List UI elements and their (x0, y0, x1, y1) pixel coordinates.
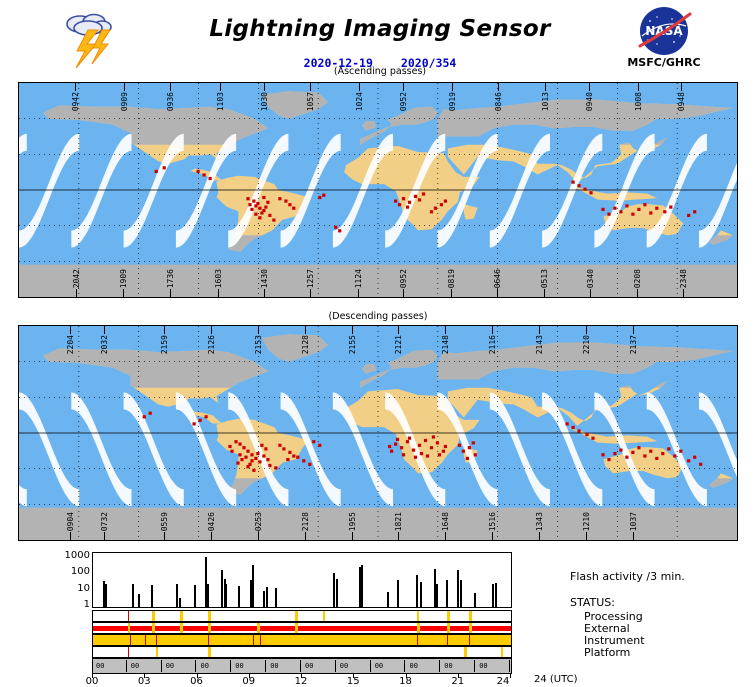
flash-activity-bar (387, 592, 389, 607)
orbit-tick (498, 83, 499, 91)
legend-flash-activity: Flash activity /3 min. (570, 570, 685, 583)
orbit-tick (352, 532, 353, 540)
orbit-tick (403, 83, 404, 91)
flash-marker (258, 460, 261, 463)
flash-marker (199, 419, 202, 422)
flash-marker (209, 177, 212, 180)
y-axis-tick-label: 10 (50, 583, 90, 594)
platform-segment: 00 (198, 660, 232, 672)
orbit-time-label: 1030 (260, 92, 269, 111)
x-axis-tick-label: 12 (286, 676, 316, 687)
flash-marker (406, 440, 409, 443)
instrument-status-mark (260, 635, 261, 645)
orbit-time-label: 1210 (582, 512, 591, 531)
flash-activity-bar (361, 565, 363, 608)
flash-activity-bar (333, 573, 335, 607)
processing-status-mark (323, 611, 325, 621)
orbit-time-label: 0904 (66, 512, 75, 531)
flash-marker (163, 166, 166, 169)
flash-marker (408, 437, 411, 440)
flash-marker (406, 206, 409, 209)
flash-marker (607, 213, 610, 216)
flash-marker (143, 415, 146, 418)
orbit-tick (264, 83, 265, 91)
orbit-time-label: 0732 (100, 512, 109, 531)
orbit-tick (305, 532, 306, 540)
flash-marker (197, 170, 200, 173)
flash-marker (205, 415, 208, 418)
flash-marker (442, 450, 445, 453)
flash-marker (619, 210, 622, 213)
y-axis-tick-label: 100 (50, 566, 90, 577)
flash-marker (260, 444, 263, 447)
orbit-tick (352, 326, 353, 334)
orbit-time-label: 1057 (306, 92, 315, 111)
legend-platform: Platform (584, 646, 630, 659)
orbit-time-label: 2159 (160, 335, 169, 354)
orbit-tick (305, 326, 306, 334)
flash-marker (583, 188, 586, 191)
flash-marker (414, 456, 417, 459)
flash-marker (155, 170, 158, 173)
flash-marker (390, 450, 393, 453)
flash-marker (643, 203, 646, 206)
orbit-time-label: 1103 (216, 92, 225, 111)
orbit-tick (681, 83, 682, 91)
orbit-time-label: 2210 (582, 335, 591, 354)
flash-marker (246, 450, 249, 453)
flash-marker (272, 219, 275, 222)
orbit-time-label: 0819 (447, 269, 456, 288)
flash-marker (418, 444, 421, 447)
orbit-time-label: 2148 (441, 335, 450, 354)
flash-marker (246, 197, 249, 200)
flash-marker (250, 208, 253, 211)
flash-marker (308, 463, 311, 466)
external-status-mark (208, 623, 211, 633)
flash-marker (466, 457, 469, 460)
x-axis-tick-label-last: 24 (488, 676, 518, 687)
orbit-tick (104, 326, 105, 334)
orbit-time-label: 0940 (585, 92, 594, 111)
descending-caption: (Descending passes) (18, 311, 738, 322)
flash-activity-bar (179, 598, 181, 607)
processing-status-mark (180, 611, 183, 621)
flash-marker (418, 198, 421, 201)
processing-status-mark (295, 611, 298, 621)
processing-status-mark (447, 611, 450, 621)
orbit-time-label: 0208 (633, 269, 642, 288)
orbit-tick (310, 289, 311, 297)
orbit-tick (590, 289, 591, 297)
flash-activity-bar (446, 580, 448, 607)
orbit-time-label: 1955 (348, 512, 357, 531)
external-status-mark (447, 623, 450, 633)
flash-marker (286, 458, 289, 461)
descending-map-canvas (18, 325, 738, 541)
flash-activity-bar (207, 584, 209, 607)
orbit-time-label: 1736 (166, 269, 175, 288)
orbit-time-label: 0340 (586, 269, 595, 288)
flash-marker (238, 443, 241, 446)
external-status-mark (469, 623, 472, 633)
flash-marker (667, 447, 670, 450)
orbit-time-label: 0909 (120, 92, 129, 111)
flash-marker (693, 210, 696, 213)
flash-marker (655, 457, 658, 460)
orbit-tick (104, 532, 105, 540)
flash-marker (312, 440, 315, 443)
flash-marker (420, 452, 423, 455)
flash-marker (250, 459, 253, 462)
platform-segment-strip: 000000000000000000000000 (92, 658, 512, 674)
orbit-time-label: 1603 (214, 269, 223, 288)
flash-marker (663, 210, 666, 213)
processing-status-mark (417, 611, 419, 621)
external-status-mark (128, 623, 130, 633)
flash-activity-bar (266, 587, 268, 607)
orbit-tick (586, 326, 587, 334)
x-axis-tick-label: 09 (234, 676, 264, 687)
instrument-status-mark (130, 635, 131, 645)
orbit-tick (638, 83, 639, 91)
x-axis-tick-label: 18 (391, 676, 421, 687)
orbit-time-label: 2204 (66, 335, 75, 354)
platform-segment: 00 (128, 660, 162, 672)
agency-caption: MSFC/GHRC (608, 56, 720, 69)
external-status-mark (180, 623, 183, 633)
platform-segment: 00 (337, 660, 371, 672)
orbit-tick (218, 289, 219, 297)
ascending-passes-map: 0942090909361103103010571024095209190846… (18, 82, 738, 298)
flash-activity-bar (194, 585, 196, 607)
flash-marker (422, 192, 425, 195)
orbit-tick (589, 83, 590, 91)
instrument-status-mark (469, 635, 470, 645)
flash-marker (655, 207, 658, 210)
x-axis-tick-label: 00 (77, 676, 107, 687)
flash-marker (613, 207, 616, 210)
flash-marker (266, 458, 269, 461)
flash-marker (274, 466, 277, 469)
x-axis-tick-label: 15 (338, 676, 368, 687)
orbit-tick (445, 326, 446, 334)
platform-segment: 00 (372, 660, 406, 672)
flash-activity-bar (474, 593, 476, 607)
legend-status-title: STATUS: (570, 596, 615, 609)
descending-passes-map: 2204203221592126215321282155212121482116… (18, 325, 738, 541)
orbit-time-label: 2116 (488, 335, 497, 354)
platform-segment: 00 (407, 660, 441, 672)
orbit-tick (164, 532, 165, 540)
flash-marker (572, 181, 575, 184)
flash-marker (236, 462, 239, 465)
flash-marker (252, 469, 255, 472)
orbit-time-label: 1343 (535, 512, 544, 531)
flash-marker (434, 207, 437, 210)
orbit-tick (359, 83, 360, 91)
instrument-status-mark (417, 635, 418, 645)
platform-status-mark (128, 647, 129, 657)
orbit-tick (70, 326, 71, 334)
flash-marker (577, 429, 580, 432)
orbit-tick (264, 289, 265, 297)
orbit-time-label: 1008 (634, 92, 643, 111)
flash-marker (248, 203, 251, 206)
flash-marker (322, 194, 325, 197)
instrument-status-mark (253, 635, 254, 645)
thunderstorm-cloud-lightning-icon (58, 6, 122, 70)
flash-marker (238, 453, 241, 456)
orbit-tick (544, 289, 545, 297)
flash-marker (589, 191, 592, 194)
orbit-time-label: 0513 (540, 269, 549, 288)
flash-activity-bar (132, 584, 134, 607)
orbit-tick (451, 289, 452, 297)
flash-marker (264, 206, 267, 209)
orbit-tick (70, 532, 71, 540)
flash-marker (414, 195, 417, 198)
processing-status-mark (469, 611, 472, 621)
flash-activity-bar (397, 580, 399, 607)
flash-activity-bar (436, 584, 438, 607)
x-axis-tick-label: 03 (129, 676, 159, 687)
platform-status-mark (156, 647, 158, 657)
flash-marker (444, 445, 447, 448)
flash-activity-bar (238, 586, 240, 607)
flash-activity-bar (460, 580, 462, 607)
ascending-map-canvas (18, 82, 738, 298)
orbit-time-label: 0952 (399, 92, 408, 111)
x-axis-tick-label: 21 (443, 676, 473, 687)
platform-segment: 00 (302, 660, 336, 672)
orbit-tick (492, 532, 493, 540)
flash-activity-bar (225, 584, 227, 607)
flash-marker (292, 454, 295, 457)
processing-status-mark (208, 611, 211, 621)
orbit-time-label: 1037 (629, 512, 638, 531)
orbit-tick (452, 83, 453, 91)
flash-marker (412, 449, 415, 452)
y-axis-tick-label: 1 (50, 599, 90, 610)
status-row-processing (92, 610, 512, 622)
orbit-time-label: 1024 (355, 92, 364, 111)
flash-marker (619, 449, 622, 452)
orbit-time-label: 1516 (488, 512, 497, 531)
page-header: Lightning Imaging Sensor 2020-12-192020/… (0, 0, 756, 80)
ascending-caption: (Ascending passes) (180, 66, 580, 77)
orbit-tick (633, 532, 634, 540)
flash-marker (649, 211, 652, 214)
orbit-tick (539, 532, 540, 540)
flash-marker (282, 447, 285, 450)
orbit-tick (445, 532, 446, 540)
orbit-tick (586, 532, 587, 540)
flash-marker (203, 173, 206, 176)
flash-marker (661, 452, 664, 455)
flash-marker (472, 441, 475, 444)
flash-marker (474, 453, 477, 456)
flash-marker (288, 203, 291, 206)
orbit-time-label: 1257 (306, 269, 315, 288)
flash-activity-bar (263, 591, 265, 607)
orbit-tick (633, 326, 634, 334)
flash-marker (679, 450, 682, 453)
flash-marker (244, 456, 247, 459)
orbit-time-label: 1013 (541, 92, 550, 111)
flash-marker (637, 208, 640, 211)
flash-marker (601, 208, 604, 211)
flash-marker (250, 453, 253, 456)
flash-marker (607, 458, 610, 461)
orbit-tick (123, 289, 124, 297)
flash-marker (436, 441, 439, 444)
instrument-status-mark (156, 635, 157, 645)
flash-marker (252, 200, 255, 203)
flash-marker (278, 197, 281, 200)
flash-marker (572, 426, 575, 429)
orbit-tick (539, 326, 540, 334)
flash-marker (278, 444, 281, 447)
flash-marker (388, 445, 391, 448)
flash-marker (687, 459, 690, 462)
flash-marker (458, 444, 461, 447)
y-axis-tick-label: 1000 (50, 550, 90, 561)
flash-marker (440, 203, 443, 206)
orbit-time-label: 2032 (100, 335, 109, 354)
flash-activity-bar (138, 594, 140, 607)
orbit-tick (170, 289, 171, 297)
flash-marker (288, 451, 291, 454)
orbit-tick (211, 532, 212, 540)
flash-marker (396, 438, 399, 441)
flash-marker (334, 226, 337, 229)
orbit-time-label: 0253 (254, 512, 263, 531)
flash-marker (585, 433, 588, 436)
flash-marker (566, 422, 569, 425)
orbit-time-label: 2153 (254, 335, 263, 354)
external-status-mark (295, 623, 298, 633)
orbit-time-label: 2042 (72, 269, 81, 288)
orbit-tick (170, 83, 171, 91)
instrument-status-mark (447, 635, 448, 645)
orbit-tick (220, 83, 221, 91)
orbit-tick (258, 326, 259, 334)
flash-marker (149, 412, 152, 415)
flash-marker (601, 453, 604, 456)
flash-activity-bar (105, 584, 107, 607)
orbit-time-label: 0426 (207, 512, 216, 531)
flash-marker (258, 207, 261, 210)
flash-marker (462, 450, 465, 453)
orbit-time-label: 2155 (348, 335, 357, 354)
external-status-mark (152, 623, 155, 633)
flash-marker (438, 453, 441, 456)
orbit-time-label: 1648 (441, 512, 450, 531)
flash-marker (296, 456, 299, 459)
orbit-time-label: 2348 (679, 269, 688, 288)
ascending-map-graphic (19, 83, 737, 297)
orbit-tick (211, 326, 212, 334)
flash-marker (193, 422, 196, 425)
orbit-time-label: 1430 (260, 269, 269, 288)
flash-marker (402, 453, 405, 456)
flash-marker (266, 201, 269, 204)
orbit-time-label: 2126 (207, 335, 216, 354)
orbit-tick (258, 532, 259, 540)
orbit-tick (358, 289, 359, 297)
orbit-time-label: 1821 (394, 512, 403, 531)
instrument-status-mark (145, 635, 146, 645)
orbit-tick (398, 532, 399, 540)
flash-activity-bar (420, 582, 422, 607)
flash-marker (256, 452, 259, 455)
flash-marker (444, 200, 447, 203)
orbit-time-label: 1124 (354, 269, 363, 288)
descending-map-graphic (19, 326, 737, 540)
orbit-tick (164, 326, 165, 334)
flash-activity-bar (336, 579, 338, 607)
flash-marker (260, 211, 263, 214)
orbit-time-label: 0952 (399, 269, 408, 288)
flash-marker (625, 456, 628, 459)
orbit-tick (310, 83, 311, 91)
flash-marker (613, 452, 616, 455)
orbit-time-label: 2128 (301, 335, 310, 354)
flash-marker (649, 450, 652, 453)
orbit-tick (124, 83, 125, 91)
flash-activity-bar (492, 584, 494, 607)
platform-status-mark (501, 647, 503, 657)
page-title: Lightning Imaging Sensor (180, 16, 580, 42)
orbit-tick (403, 289, 404, 297)
platform-status-mark (464, 647, 467, 657)
flash-marker (262, 196, 265, 199)
status-row-platform (92, 646, 512, 658)
flash-activity-bar (416, 575, 418, 607)
flash-marker (338, 229, 341, 232)
platform-segment: 00 (232, 660, 266, 672)
flash-activity-bar (495, 583, 497, 607)
flash-marker (318, 196, 321, 199)
orbit-tick (492, 326, 493, 334)
flash-marker (284, 200, 287, 203)
flash-marker (398, 203, 401, 206)
flash-marker (268, 214, 271, 217)
flash-marker (699, 463, 702, 466)
flash-marker (254, 213, 257, 216)
flash-marker (394, 200, 397, 203)
flash-marker (268, 464, 271, 467)
orbit-time-label: 2137 (629, 335, 638, 354)
flash-marker (430, 210, 433, 213)
flash-marker (230, 450, 233, 453)
orbit-time-label: 1909 (119, 269, 128, 288)
orbit-tick (497, 289, 498, 297)
flash-marker (402, 197, 405, 200)
orbit-time-label: 0646 (493, 269, 502, 288)
platform-segment: 00 (163, 660, 197, 672)
processing-status-mark (152, 611, 155, 621)
orbit-time-label: 2143 (535, 335, 544, 354)
orbit-tick (398, 326, 399, 334)
instrument-status-mark (208, 635, 209, 645)
flash-marker (258, 216, 261, 219)
external-status-mark (257, 623, 260, 633)
status-row-instrument (92, 634, 512, 646)
orbit-time-label: 2121 (394, 335, 403, 354)
external-status-mark (417, 623, 420, 633)
